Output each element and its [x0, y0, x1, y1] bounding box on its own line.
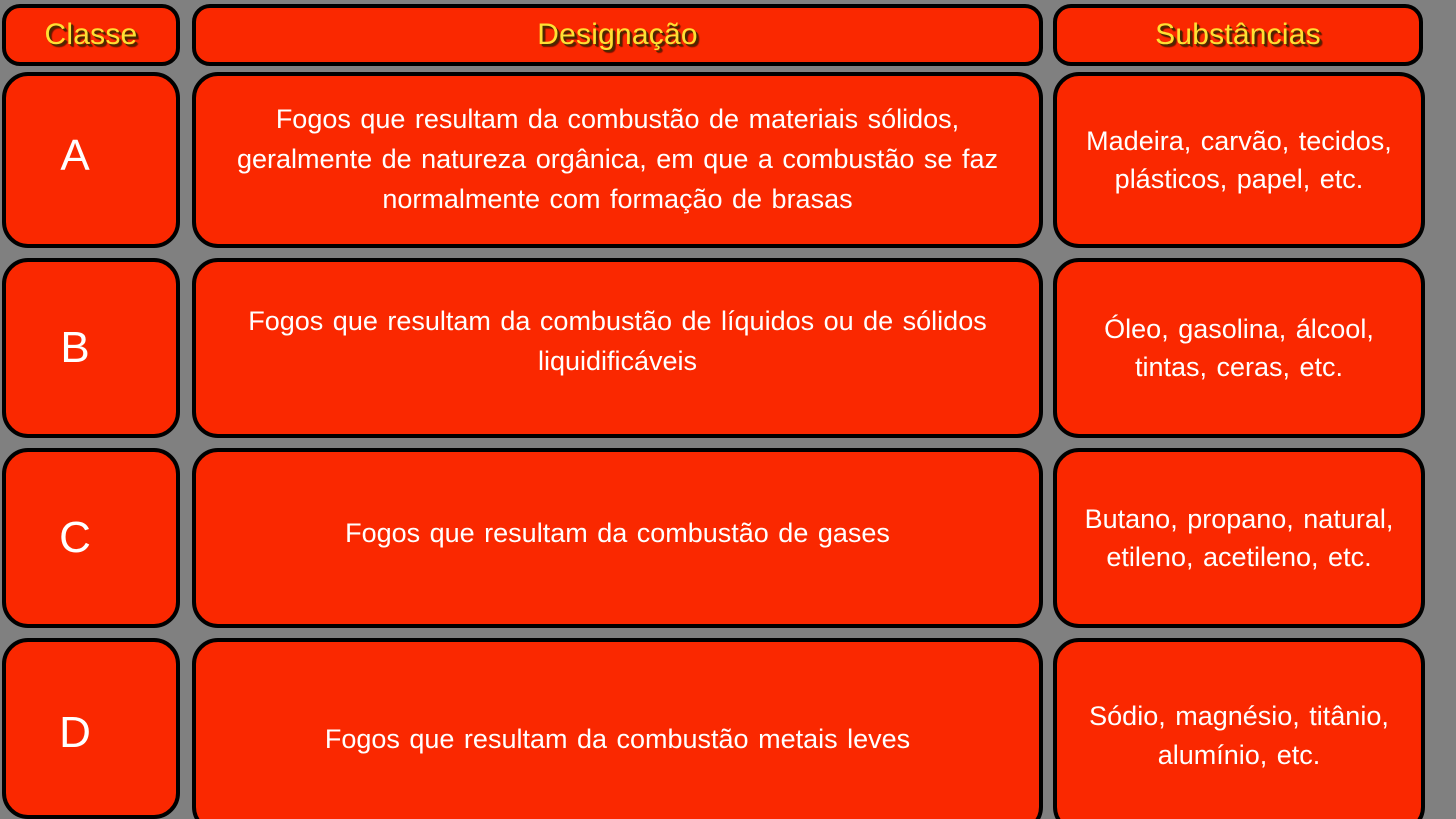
header-cell-substancias: Substâncias	[1053, 4, 1423, 66]
header-label-substancias: Substâncias	[1155, 17, 1321, 52]
class-cell-b: B	[2, 258, 180, 438]
substances-text: Madeira, carvão, tecidos, plásticos, pap…	[1067, 122, 1411, 199]
substances-text: Butano, propano, natural, etileno, aceti…	[1067, 500, 1411, 577]
designation-text: Fogos que resultam da combustão metais l…	[325, 720, 910, 760]
class-cell-d: D	[2, 638, 180, 819]
designation-text: Fogos que resultam da combustão de líqui…	[210, 302, 1025, 382]
class-cell-c: C	[2, 448, 180, 628]
designation-cell-c: Fogos que resultam da combustão de gases	[192, 448, 1043, 628]
substances-text: Sódio, magnésio, titânio, alumínio, etc.	[1067, 697, 1411, 774]
designation-cell-d: Fogos que resultam da combustão metais l…	[192, 638, 1043, 819]
designation-text: Fogos que resultam da combustão de gases	[345, 514, 890, 554]
class-letter: B	[60, 326, 89, 370]
substances-cell-a: Madeira, carvão, tecidos, plásticos, pap…	[1053, 72, 1425, 248]
fire-classes-table: Classe Designação Substâncias A Fogos qu…	[0, 0, 1456, 819]
class-letter: C	[59, 516, 91, 560]
designation-cell-a: Fogos que resultam da combustão de mater…	[192, 72, 1043, 248]
class-letter: A	[60, 134, 89, 178]
header-label-classe: Classe	[45, 17, 138, 52]
substances-text: Óleo, gasolina, álcool, tintas, ceras, e…	[1067, 310, 1411, 387]
designation-text: Fogos que resultam da combustão de mater…	[210, 100, 1025, 220]
substances-cell-b: Óleo, gasolina, álcool, tintas, ceras, e…	[1053, 258, 1425, 438]
header-cell-classe: Classe	[2, 4, 180, 66]
class-letter: D	[59, 711, 91, 755]
designation-cell-b: Fogos que resultam da combustão de líqui…	[192, 258, 1043, 438]
substances-cell-c: Butano, propano, natural, etileno, aceti…	[1053, 448, 1425, 628]
substances-cell-d: Sódio, magnésio, titânio, alumínio, etc.	[1053, 638, 1425, 819]
header-cell-designacao: Designação	[192, 4, 1043, 66]
header-label-designacao: Designação	[537, 17, 697, 52]
class-cell-a: A	[2, 72, 180, 248]
